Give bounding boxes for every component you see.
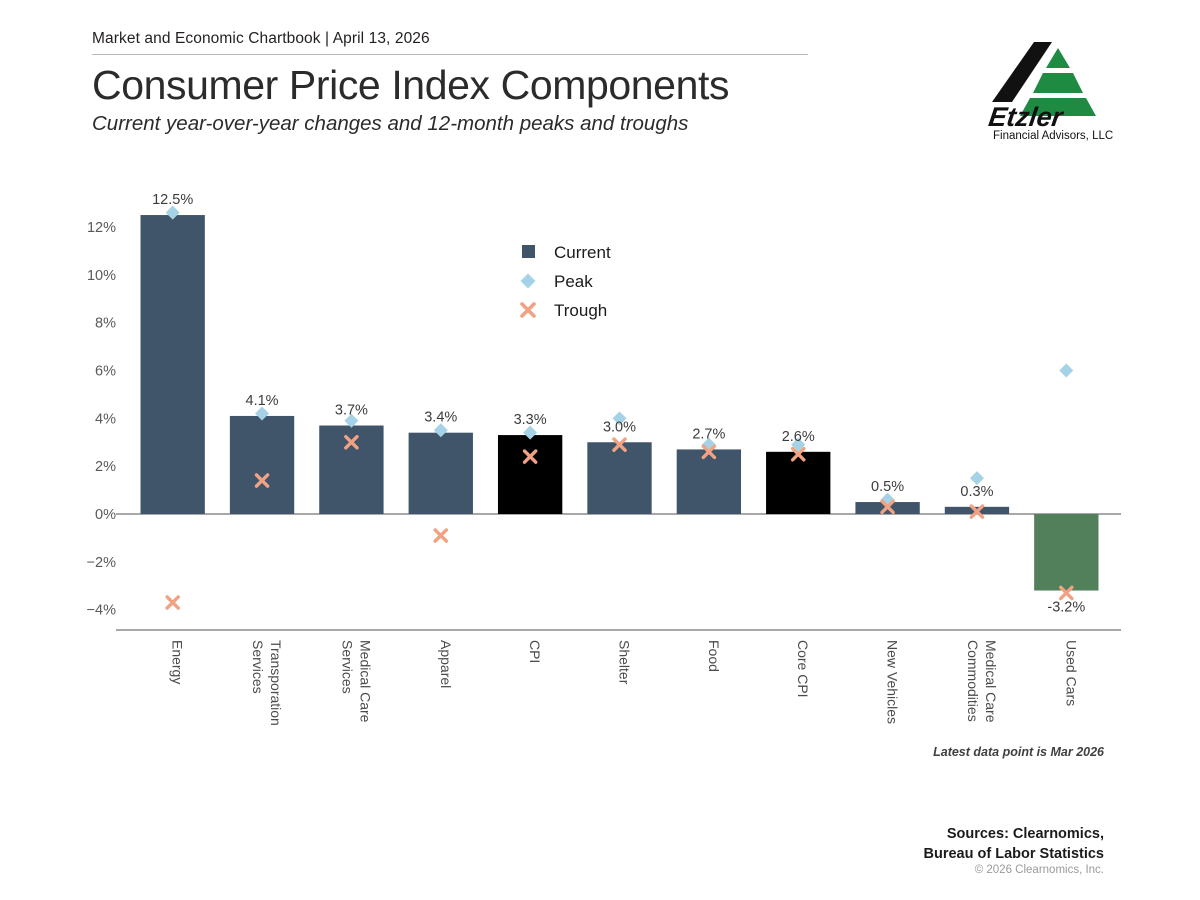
value-label-used-cars: -3.2%: [1047, 600, 1085, 616]
y-tick-label: 12%: [87, 220, 116, 236]
value-label-medical-care-commodities: 0.3%: [960, 484, 993, 500]
bar-medical-care-services: [319, 426, 383, 514]
peak-marker-used-cars: [1059, 364, 1073, 378]
header-divider: [92, 54, 808, 55]
value-label-apparel: 3.4%: [424, 410, 457, 426]
chart-header: Market and Economic Chartbook | April 13…: [92, 30, 812, 136]
trough-marker-medical-care-services: [346, 437, 357, 448]
x-tick-label-shelter: Shelter: [617, 640, 633, 685]
x-tick-label-cpi: CPI: [527, 640, 543, 663]
trough-marker-core-cpi: [793, 449, 804, 460]
peak-marker-new-vehicles: [881, 493, 895, 507]
chartbook-eyebrow: Market and Economic Chartbook | April 13…: [92, 30, 812, 48]
logo-wordmark: Etzler: [987, 101, 1066, 132]
y-tick-label: 8%: [95, 316, 116, 332]
bar-used-cars: [1034, 514, 1098, 591]
y-tick-label: 2%: [95, 459, 116, 475]
x-tick-label-medical-care-commodities: Medical Care: [983, 640, 999, 723]
page-title: Consumer Price Index Components: [92, 63, 812, 108]
bar-food: [677, 449, 741, 514]
bar-core-cpi: [766, 452, 830, 514]
trough-marker-energy: [167, 597, 178, 608]
y-tick-label: −2%: [87, 555, 117, 571]
latest-data-note: Latest data point is Mar 2026: [933, 745, 1104, 759]
peak-marker-energy: [166, 206, 180, 220]
trough-marker-used-cars: [1061, 587, 1072, 598]
trough-marker-food: [703, 446, 714, 457]
legend-label-current: Current: [554, 243, 611, 262]
x-tick-label-medical-care-services: Services: [339, 640, 355, 694]
bar-transporation-services: [230, 416, 294, 514]
peak-marker-cpi: [523, 426, 537, 440]
value-label-transporation-services: 4.1%: [246, 393, 279, 409]
legend-label-peak: Peak: [554, 272, 593, 291]
bar-value-labels: 12.5%4.1%3.7%3.4%3.3%3.0%2.7%2.6%0.5%0.3…: [152, 192, 1085, 615]
legend-swatch-peak: [521, 274, 536, 289]
peak-marker-transporation-services: [255, 407, 269, 421]
marker-series-peak: [166, 206, 1074, 507]
legend-swatch-current: [522, 245, 535, 258]
bar-apparel: [409, 433, 473, 514]
trough-marker-medical-care-commodities: [971, 506, 982, 517]
x-tick-label-used-cars: Used Cars: [1063, 640, 1079, 706]
sources-line-2: Bureau of Labor Statistics: [924, 845, 1104, 865]
peak-marker-medical-care-services: [344, 414, 358, 428]
value-label-food: 2.7%: [692, 426, 725, 442]
sources-note: Sources: Clearnomics, Bureau of Labor St…: [924, 825, 1104, 864]
logo-pyramid-mid-icon: [1033, 73, 1083, 93]
bar-shelter: [587, 442, 651, 514]
x-tick-label-medical-care-services: Medical Care: [357, 640, 373, 723]
logo-pyramid-top-icon: [1046, 48, 1070, 68]
value-label-cpi: 3.3%: [514, 412, 547, 428]
peak-marker-apparel: [434, 423, 448, 437]
value-label-core-cpi: 2.6%: [782, 429, 815, 445]
marker-series-trough: [167, 437, 1072, 608]
y-axis-tick-labels: 12%10%8%6%4%2%0%−2%−4%: [87, 220, 117, 619]
legend-label-trough: Trough: [554, 301, 607, 320]
x-tick-label-transporation-services: Services: [250, 640, 266, 694]
trough-marker-apparel: [435, 530, 446, 541]
trough-marker-new-vehicles: [882, 501, 893, 512]
trough-marker-cpi: [525, 451, 536, 462]
bar-series-current: [141, 215, 1099, 590]
etzler-logo: Etzler Financial Advisors, LLC: [982, 38, 1122, 142]
bar-medical-care-commodities: [945, 507, 1009, 514]
sources-line-1: Sources: Clearnomics,: [924, 825, 1104, 845]
copyright-note: © 2026 Clearnomics, Inc.: [975, 864, 1104, 876]
x-tick-label-energy: Energy: [170, 640, 186, 684]
peak-marker-core-cpi: [791, 438, 805, 452]
peak-marker-medical-care-commodities: [970, 471, 984, 485]
y-tick-label: −4%: [87, 603, 117, 619]
logo-tagline: Financial Advisors, LLC: [993, 130, 1113, 142]
bar-energy: [141, 215, 205, 514]
bar-cpi: [498, 435, 562, 514]
y-tick-label: 4%: [95, 411, 116, 427]
peak-marker-food: [702, 438, 716, 452]
value-label-medical-care-services: 3.7%: [335, 403, 368, 419]
x-tick-label-food: Food: [706, 640, 722, 672]
trough-marker-shelter: [614, 439, 625, 450]
y-tick-label: 6%: [95, 364, 116, 380]
x-tick-label-core-cpi: Core CPI: [795, 640, 811, 698]
x-tick-label-apparel: Apparel: [438, 640, 454, 688]
y-tick-label: 0%: [95, 507, 116, 523]
legend-swatch-trough: [522, 304, 534, 316]
x-tick-label-new-vehicles: New Vehicles: [885, 640, 901, 724]
x-axis-tick-labels: EnergyTransporationServicesMedical CareS…: [170, 640, 1080, 726]
x-tick-label-medical-care-commodities: Commodities: [965, 640, 981, 722]
trough-marker-transporation-services: [256, 475, 267, 486]
bar-new-vehicles: [855, 502, 919, 514]
peak-marker-shelter: [613, 411, 627, 425]
y-tick-label: 10%: [87, 268, 116, 284]
page-subtitle: Current year-over-year changes and 12-mo…: [92, 112, 812, 136]
value-label-energy: 12.5%: [152, 192, 193, 208]
value-label-shelter: 3.0%: [603, 419, 636, 435]
x-tick-label-transporation-services: Transporation: [268, 640, 284, 726]
value-label-new-vehicles: 0.5%: [871, 479, 904, 495]
chart-legend: CurrentPeakTrough: [521, 243, 611, 320]
